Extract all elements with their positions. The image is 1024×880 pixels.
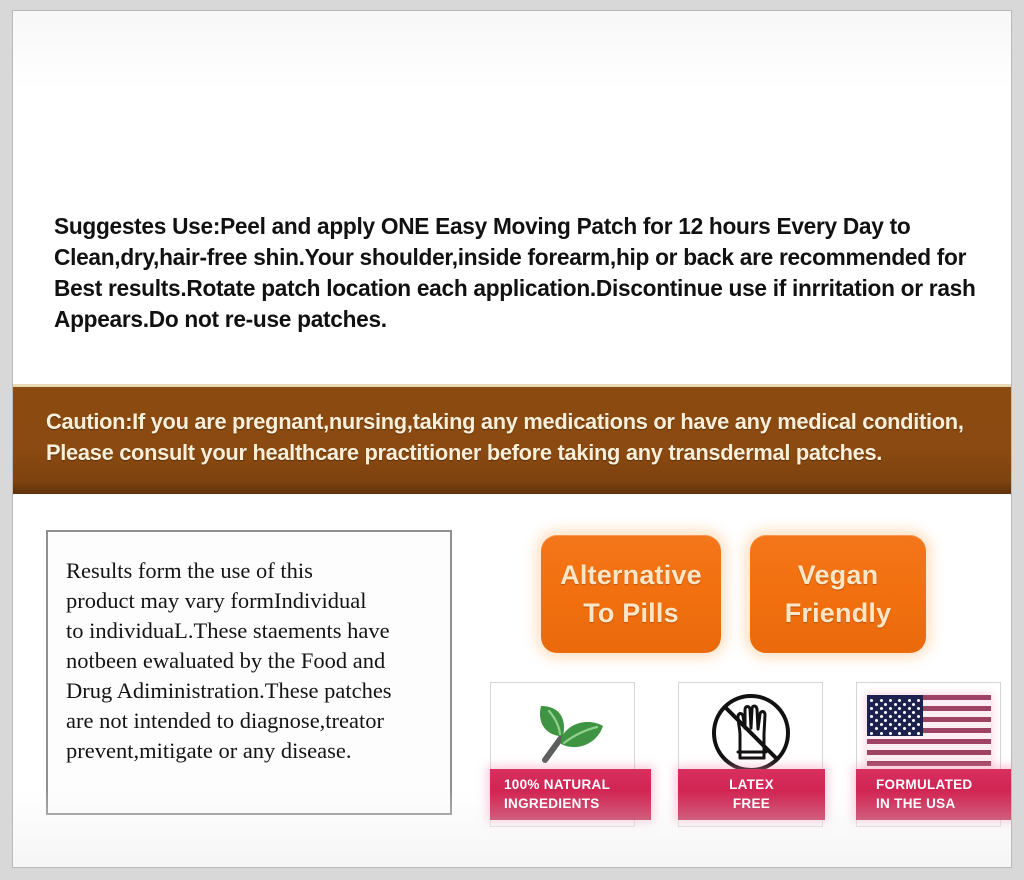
flag-star (903, 711, 906, 714)
flag-canton (867, 695, 923, 736)
flag-star (898, 707, 901, 710)
flag-star (884, 727, 887, 730)
flag-star (898, 715, 901, 718)
flag-star (880, 732, 883, 735)
flag-star (870, 699, 873, 702)
flag-star (894, 711, 897, 714)
flag-star (898, 699, 901, 702)
suggested-use-line-3: Best results.Rotate patch location each … (54, 273, 951, 304)
flag-star (917, 723, 920, 726)
flag-star (917, 732, 920, 735)
flag-star (903, 727, 906, 730)
flag-star (908, 723, 911, 726)
cert-art-usa (857, 683, 1000, 783)
flag-star (908, 715, 911, 718)
flag-star (870, 723, 873, 726)
flag-star (908, 732, 911, 735)
caution-line-2: Please consult your healthcare practitio… (46, 437, 984, 468)
flag-star (884, 719, 887, 722)
cert-art-natural (491, 683, 634, 783)
cert-art-latex (679, 683, 822, 783)
flag-star (908, 707, 911, 710)
flag-star (912, 719, 915, 722)
flag-star (912, 727, 915, 730)
flag-star (870, 707, 873, 710)
flag-star (884, 711, 887, 714)
caution-line-1: Caution:If you are pregnant,nursing,taki… (46, 406, 984, 437)
product-label-card: Suggestes Use:Peel and apply ONE Easy Mo… (12, 10, 1012, 868)
cert-badge-natural-ingredients: 100% NATURAL INGREDIENTS (490, 682, 635, 827)
cert-badge-formulated-in-usa: FORMULATED IN THE USA (856, 682, 1001, 827)
flag-star (889, 732, 892, 735)
flag-star (903, 703, 906, 706)
badge-alternative-to-pills: Alternative To Pills (541, 535, 721, 653)
disclaimer-text: Results form the use of this product may… (66, 556, 436, 766)
flag-star (894, 719, 897, 722)
flag-star (880, 715, 883, 718)
flag-star (917, 707, 920, 710)
flag-star (898, 732, 901, 735)
flag-star (889, 723, 892, 726)
leaf-icon (515, 694, 611, 772)
flag-star (912, 711, 915, 714)
flag-star (884, 703, 887, 706)
cert-badge-latex-free: LATEX FREE (678, 682, 823, 827)
suggested-use-line-1: Suggestes Use:Peel and apply ONE Easy Mo… (54, 211, 951, 242)
cert-label-formulated-in-usa: FORMULATED IN THE USA (856, 769, 1012, 820)
flag-star (917, 715, 920, 718)
badge-alternative-to-pills-line-1: Alternative (560, 556, 702, 594)
flag-star (889, 715, 892, 718)
badge-vegan-friendly: Vegan Friendly (750, 535, 926, 653)
flag-star (870, 732, 873, 735)
no-latex-glove-icon (708, 690, 794, 776)
flag-star (908, 699, 911, 702)
cert-label-latex-free: LATEX FREE (678, 769, 825, 820)
flag-star (894, 703, 897, 706)
flag-star (880, 723, 883, 726)
flag-star (875, 711, 878, 714)
flag-star (903, 719, 906, 722)
flag-star (870, 715, 873, 718)
caution-banner: Caution:If you are pregnant,nursing,taki… (13, 384, 1012, 494)
badge-vegan-friendly-line-2: Friendly (785, 594, 892, 632)
flag-star (889, 699, 892, 702)
suggested-use-section: Suggestes Use:Peel and apply ONE Easy Mo… (54, 211, 984, 335)
flag-star (917, 699, 920, 702)
cert-label-natural-ingredients: 100% NATURAL INGREDIENTS (490, 769, 651, 820)
suggested-use-line-4: Appears.Do not re-use patches. (54, 304, 951, 335)
flag-star (875, 727, 878, 730)
flag-star (880, 699, 883, 702)
flag-star (880, 707, 883, 710)
flag-star (894, 727, 897, 730)
flag-star (889, 707, 892, 710)
flag-star (898, 723, 901, 726)
flag-star (875, 719, 878, 722)
disclaimer-box: Results form the use of this product may… (46, 530, 452, 815)
suggested-use-line-2: Clean,dry,hair-free shin.Your shoulder,i… (54, 242, 951, 273)
flag-star (875, 703, 878, 706)
badge-vegan-friendly-line-1: Vegan (798, 556, 879, 594)
usa-flag-icon (867, 695, 991, 771)
flag-star (912, 703, 915, 706)
badge-alternative-to-pills-line-2: To Pills (583, 594, 679, 632)
